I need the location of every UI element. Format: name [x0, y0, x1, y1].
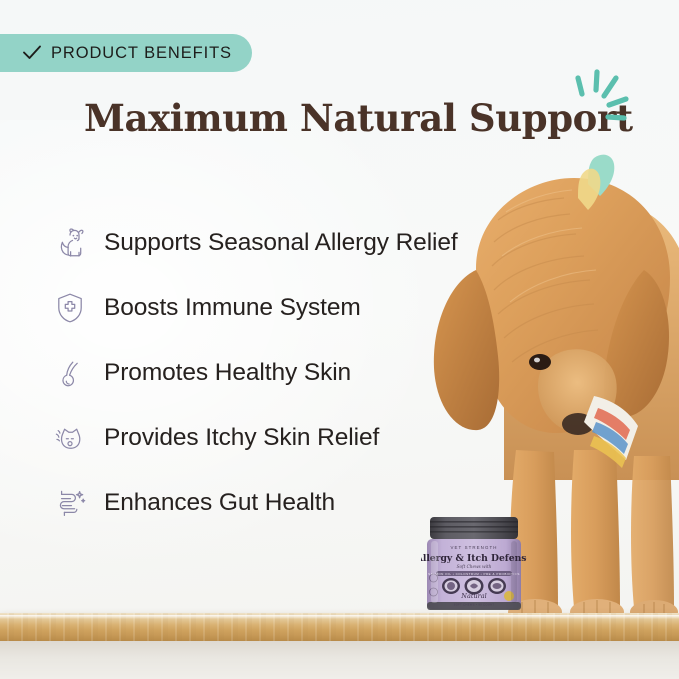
benefit-label: Provides Itchy Skin Relief — [104, 424, 379, 452]
product-benefits-infographic: VET STRENGTH Allergy & Itch Defense Soft… — [0, 0, 679, 679]
svg-text:Soft Chews with: Soft Chews with — [457, 564, 492, 569]
dog-eye — [529, 354, 551, 370]
sparkle-burst-icon — [566, 66, 636, 136]
svg-text:SOFT CHEWS • 90 COUNT: SOFT CHEWS • 90 COUNT — [454, 603, 495, 607]
shelf-highlight — [0, 615, 679, 619]
dog-front-legs — [510, 450, 674, 608]
shield-cross-icon — [50, 288, 90, 328]
benefit-row-immune-system: Boosts Immune System — [50, 275, 520, 340]
svg-text:SALMON OIL • COLOSTRUM • PRE &: SALMON OIL • COLOSTRUM • PRE & PROBIOTIC… — [428, 572, 520, 576]
benefit-label: Boosts Immune System — [104, 294, 361, 322]
scratching-dog-icon — [50, 223, 90, 263]
hair-follicle-icon — [50, 353, 90, 393]
dog-face-itch-icon — [50, 418, 90, 458]
svg-text:Natural: Natural — [460, 592, 486, 600]
badge-label: PRODUCT BENEFITS — [51, 44, 232, 63]
page-title: Maximum Natural Support — [84, 96, 624, 140]
product-benefits-badge: PRODUCT BENEFITS — [0, 34, 252, 72]
intestines-icon — [50, 483, 90, 523]
benefits-list: Supports Seasonal Allergy Relief Boosts … — [50, 210, 520, 535]
lower-wall — [0, 641, 679, 679]
benefit-row-itchy-skin: Provides Itchy Skin Relief — [50, 405, 520, 470]
benefit-label: Promotes Healthy Skin — [104, 359, 351, 387]
benefit-row-healthy-skin: Promotes Healthy Skin — [50, 340, 520, 405]
check-icon — [22, 45, 42, 61]
benefit-row-allergy-relief: Supports Seasonal Allergy Relief — [50, 210, 520, 275]
benefit-row-gut-health: Enhances Gut Health — [50, 470, 520, 535]
benefit-label: Enhances Gut Health — [104, 489, 335, 517]
svg-text:VET STRENGTH: VET STRENGTH — [450, 545, 497, 550]
benefit-label: Supports Seasonal Allergy Relief — [104, 229, 458, 257]
